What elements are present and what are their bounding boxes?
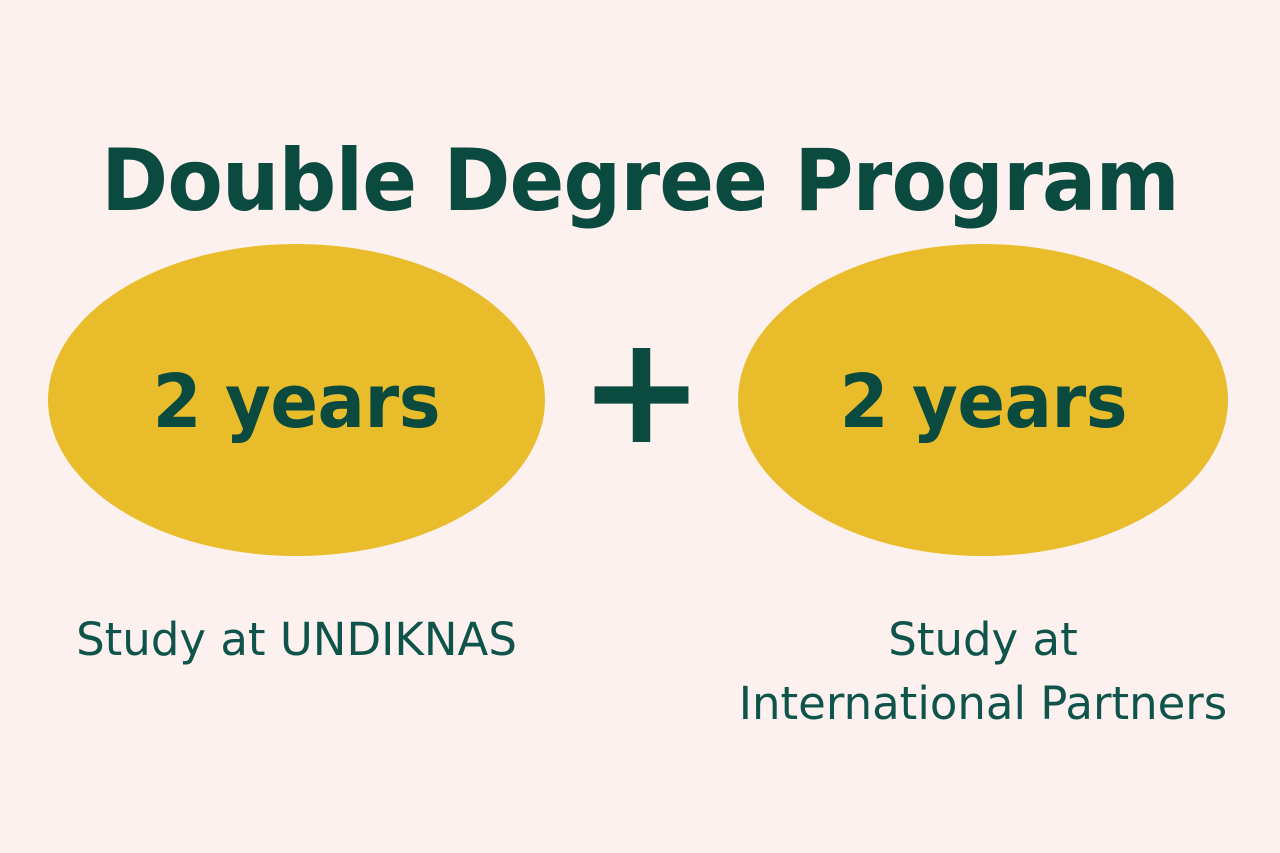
duration-label-partners: 2 years — [839, 365, 1127, 439]
caption-undiknas: Study at UNDIKNAS — [48, 608, 545, 672]
duration-ellipse-undiknas: 2 years — [48, 244, 545, 556]
page-title: Double Degree Program — [38, 136, 1241, 226]
duration-label-undiknas: 2 years — [153, 365, 441, 439]
double-degree-poster: Double Degree Program 2 years + 2 years … — [0, 0, 1280, 853]
caption-international-partners: Study at International Partners — [738, 608, 1228, 736]
caption-row: Study at UNDIKNAS Study at International… — [0, 608, 1280, 738]
duration-ellipse-partners: 2 years — [738, 244, 1228, 556]
duration-diagram: 2 years + 2 years — [0, 244, 1280, 556]
plus-icon: + — [545, 244, 738, 556]
